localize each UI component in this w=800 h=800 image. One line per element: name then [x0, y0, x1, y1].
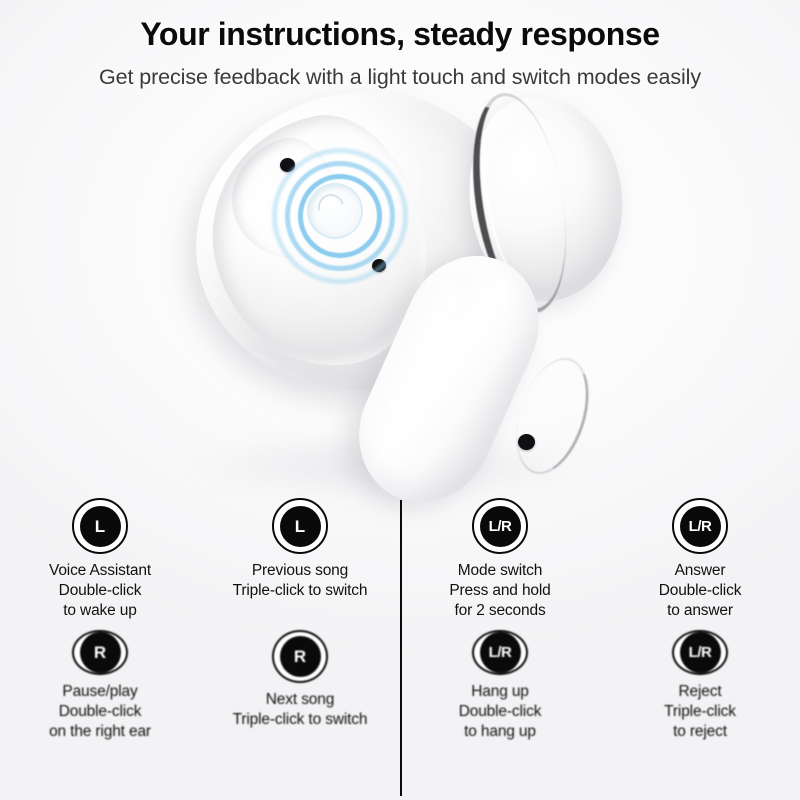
control-caption: Voice Assistant Double-click to wake up [49, 561, 151, 621]
control-item-reject[interactable]: L/R Reject Triple-click to reject [600, 621, 800, 730]
badge-right-earbud: R [272, 630, 328, 683]
caption-line: to hang up [459, 722, 542, 742]
caption-line: on the right ear [49, 722, 151, 742]
control-item-pause-play[interactable]: R Pause/play Double-click on the right e… [0, 621, 200, 730]
microphone-dot-stem [518, 434, 535, 450]
touch-ripple-icon [272, 148, 400, 276]
badge-label: R [80, 632, 121, 673]
control-item-mode-switch[interactable]: L/R Mode switch Press and hold for 2 sec… [400, 498, 600, 621]
control-item-hang-up[interactable]: L/R Hang up Double-click to hang up [400, 621, 600, 730]
caption-line: Mode switch [449, 561, 550, 581]
page-subtitle: Get precise feedback with a light touch … [0, 67, 800, 89]
page-title: Your instructions, steady response [0, 18, 800, 50]
control-item-voice-assistant[interactable]: L Voice Assistant Double-click to wake u… [0, 498, 200, 621]
controls-row-2: R Pause/play Double-click on the right e… [0, 621, 800, 730]
caption-line: Reject [664, 682, 736, 702]
badge-left-earbud: L [272, 498, 328, 554]
caption-line: Triple-click to switch [233, 581, 368, 601]
caption-line: Answer [659, 561, 742, 581]
control-item-answer[interactable]: L/R Answer Double-click to answer [600, 498, 800, 621]
caption-line: Pause/play [49, 682, 151, 702]
badge-both-earbuds: L/R [472, 630, 528, 675]
caption-line: Double-click [49, 702, 151, 722]
badge-label: L/R [680, 506, 721, 547]
caption-line: Double-click [459, 702, 542, 722]
control-caption: Reject Triple-click to reject [664, 682, 736, 742]
controls-row-1: L Voice Assistant Double-click to wake u… [0, 498, 800, 621]
control-caption: Answer Double-click to answer [659, 561, 742, 621]
caption-line: Press and hold [449, 581, 550, 601]
caption-line: Double-click [49, 581, 151, 601]
badge-left-earbud: L [72, 498, 128, 554]
caption-line: Next song [233, 690, 368, 710]
badge-both-earbuds: L/R [672, 630, 728, 675]
badge-label: L [80, 506, 121, 547]
caption-line: Triple-click to switch [233, 710, 368, 730]
controls-grid: L Voice Assistant Double-click to wake u… [0, 498, 800, 730]
caption-line: Voice Assistant [49, 561, 151, 581]
caption-line: to answer [659, 601, 742, 621]
control-item-next-song[interactable]: R Next song Triple-click to switch [200, 621, 400, 730]
badge-both-earbuds: L/R [672, 498, 728, 554]
badge-label: L/R [480, 632, 521, 673]
caption-line: Double-click [659, 581, 742, 601]
caption-line: for 2 seconds [449, 601, 550, 621]
control-caption: Hang up Double-click to hang up [459, 682, 542, 742]
product-feature-page: Your instructions, steady response Get p… [0, 0, 800, 800]
control-caption: Mode switch Press and hold for 2 seconds [449, 561, 550, 621]
badge-label: L/R [680, 632, 721, 673]
badge-label: L/R [480, 506, 521, 547]
control-item-previous-song[interactable]: L Previous song Triple-click to switch [200, 498, 400, 621]
header: Your instructions, steady response Get p… [0, 0, 800, 89]
caption-line: to reject [664, 722, 736, 742]
control-caption: Pause/play Double-click on the right ear [49, 682, 151, 742]
control-caption: Next song Triple-click to switch [233, 690, 368, 730]
badge-label: L [280, 506, 321, 547]
badge-both-earbuds: L/R [472, 498, 528, 554]
control-caption: Previous song Triple-click to switch [233, 561, 368, 601]
caption-line: Triple-click [664, 702, 736, 722]
badge-label: R [280, 636, 321, 677]
caption-line: Previous song [233, 561, 368, 581]
badge-right-earbud: R [72, 630, 128, 675]
caption-line: Hang up [459, 682, 542, 702]
caption-line: to wake up [49, 601, 151, 621]
